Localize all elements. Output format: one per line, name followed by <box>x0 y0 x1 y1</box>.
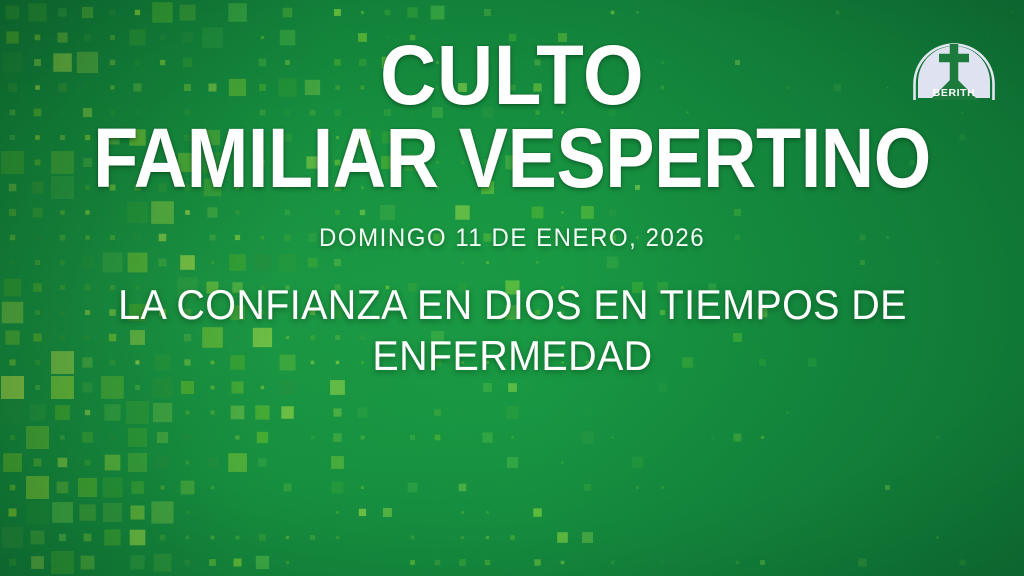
subtitle-line-1: LA CONFIANZA EN DIOS EN TIEMPOS DE <box>118 279 907 330</box>
service-date: DOMINGO 11 DE ENERO, 2026 <box>319 224 705 253</box>
slide-text-block: CULTO FAMILIAR VESPERTINO DOMINGO 11 DE … <box>0 0 1024 576</box>
subtitle-line-2: ENFERMEDAD <box>118 330 907 381</box>
heading-line-2: FAMILIAR VESPERTINO <box>93 119 931 198</box>
presentation-slide: BERITH CULTO FAMILIAR VESPERTINO DOMINGO… <box>0 0 1024 576</box>
sermon-subtitle: LA CONFIANZA EN DIOS EN TIEMPOS DE ENFER… <box>118 279 907 381</box>
heading-line-1: CULTO <box>380 36 644 115</box>
